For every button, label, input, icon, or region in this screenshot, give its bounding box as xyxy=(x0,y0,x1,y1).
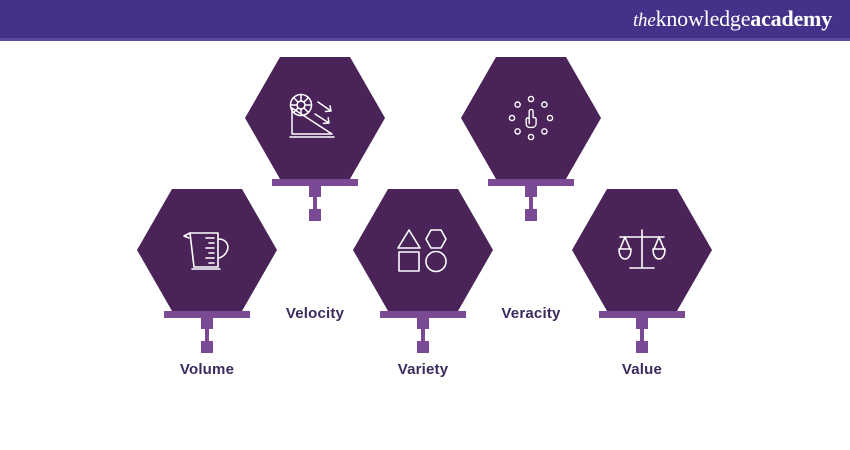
brand-logo-academy: academy xyxy=(750,6,832,31)
stand-knob-top xyxy=(309,186,321,197)
wheel-on-ramp-icon xyxy=(284,92,346,144)
stand-knob-bottom xyxy=(201,341,213,353)
stand-value xyxy=(599,311,685,357)
hexagon-volume[interactable] xyxy=(137,189,277,311)
brand-logo[interactable]: theknowledgeacademy xyxy=(633,4,832,36)
stand-knob-top xyxy=(417,318,429,329)
label-volume: Volume xyxy=(122,361,292,378)
stand-veracity xyxy=(488,179,574,225)
assorted-shapes-icon xyxy=(397,227,449,273)
stand-bar xyxy=(599,311,685,318)
hand-cursor-ring-icon xyxy=(505,92,557,144)
stand-knob-bottom xyxy=(525,209,537,221)
brand-logo-the: the xyxy=(633,10,656,31)
label-variety: Variety xyxy=(338,361,508,378)
hexagon-variety[interactable] xyxy=(353,189,493,311)
hexagon-velocity[interactable] xyxy=(245,57,385,179)
label-veracity: Veracity xyxy=(446,305,616,322)
stand-knob-bottom xyxy=(417,341,429,353)
stand-knob-top xyxy=(201,318,213,329)
stand-bar xyxy=(272,179,358,186)
label-value: Value xyxy=(557,361,727,378)
measuring-jug-icon xyxy=(180,225,234,275)
balance-scales-icon xyxy=(615,225,669,275)
hexagon-value[interactable] xyxy=(572,189,712,311)
brand-logo-knowledge: knowledge xyxy=(656,6,751,31)
label-velocity: Velocity xyxy=(230,305,400,322)
diagram-canvas: Volume xyxy=(0,41,850,450)
stand-bar xyxy=(488,179,574,186)
stand-knob-bottom xyxy=(636,341,648,353)
stand-knob-bottom xyxy=(309,209,321,221)
stand-velocity xyxy=(272,179,358,225)
hexagon-veracity[interactable] xyxy=(461,57,601,179)
stand-knob-top xyxy=(525,186,537,197)
stand-knob-top xyxy=(636,318,648,329)
